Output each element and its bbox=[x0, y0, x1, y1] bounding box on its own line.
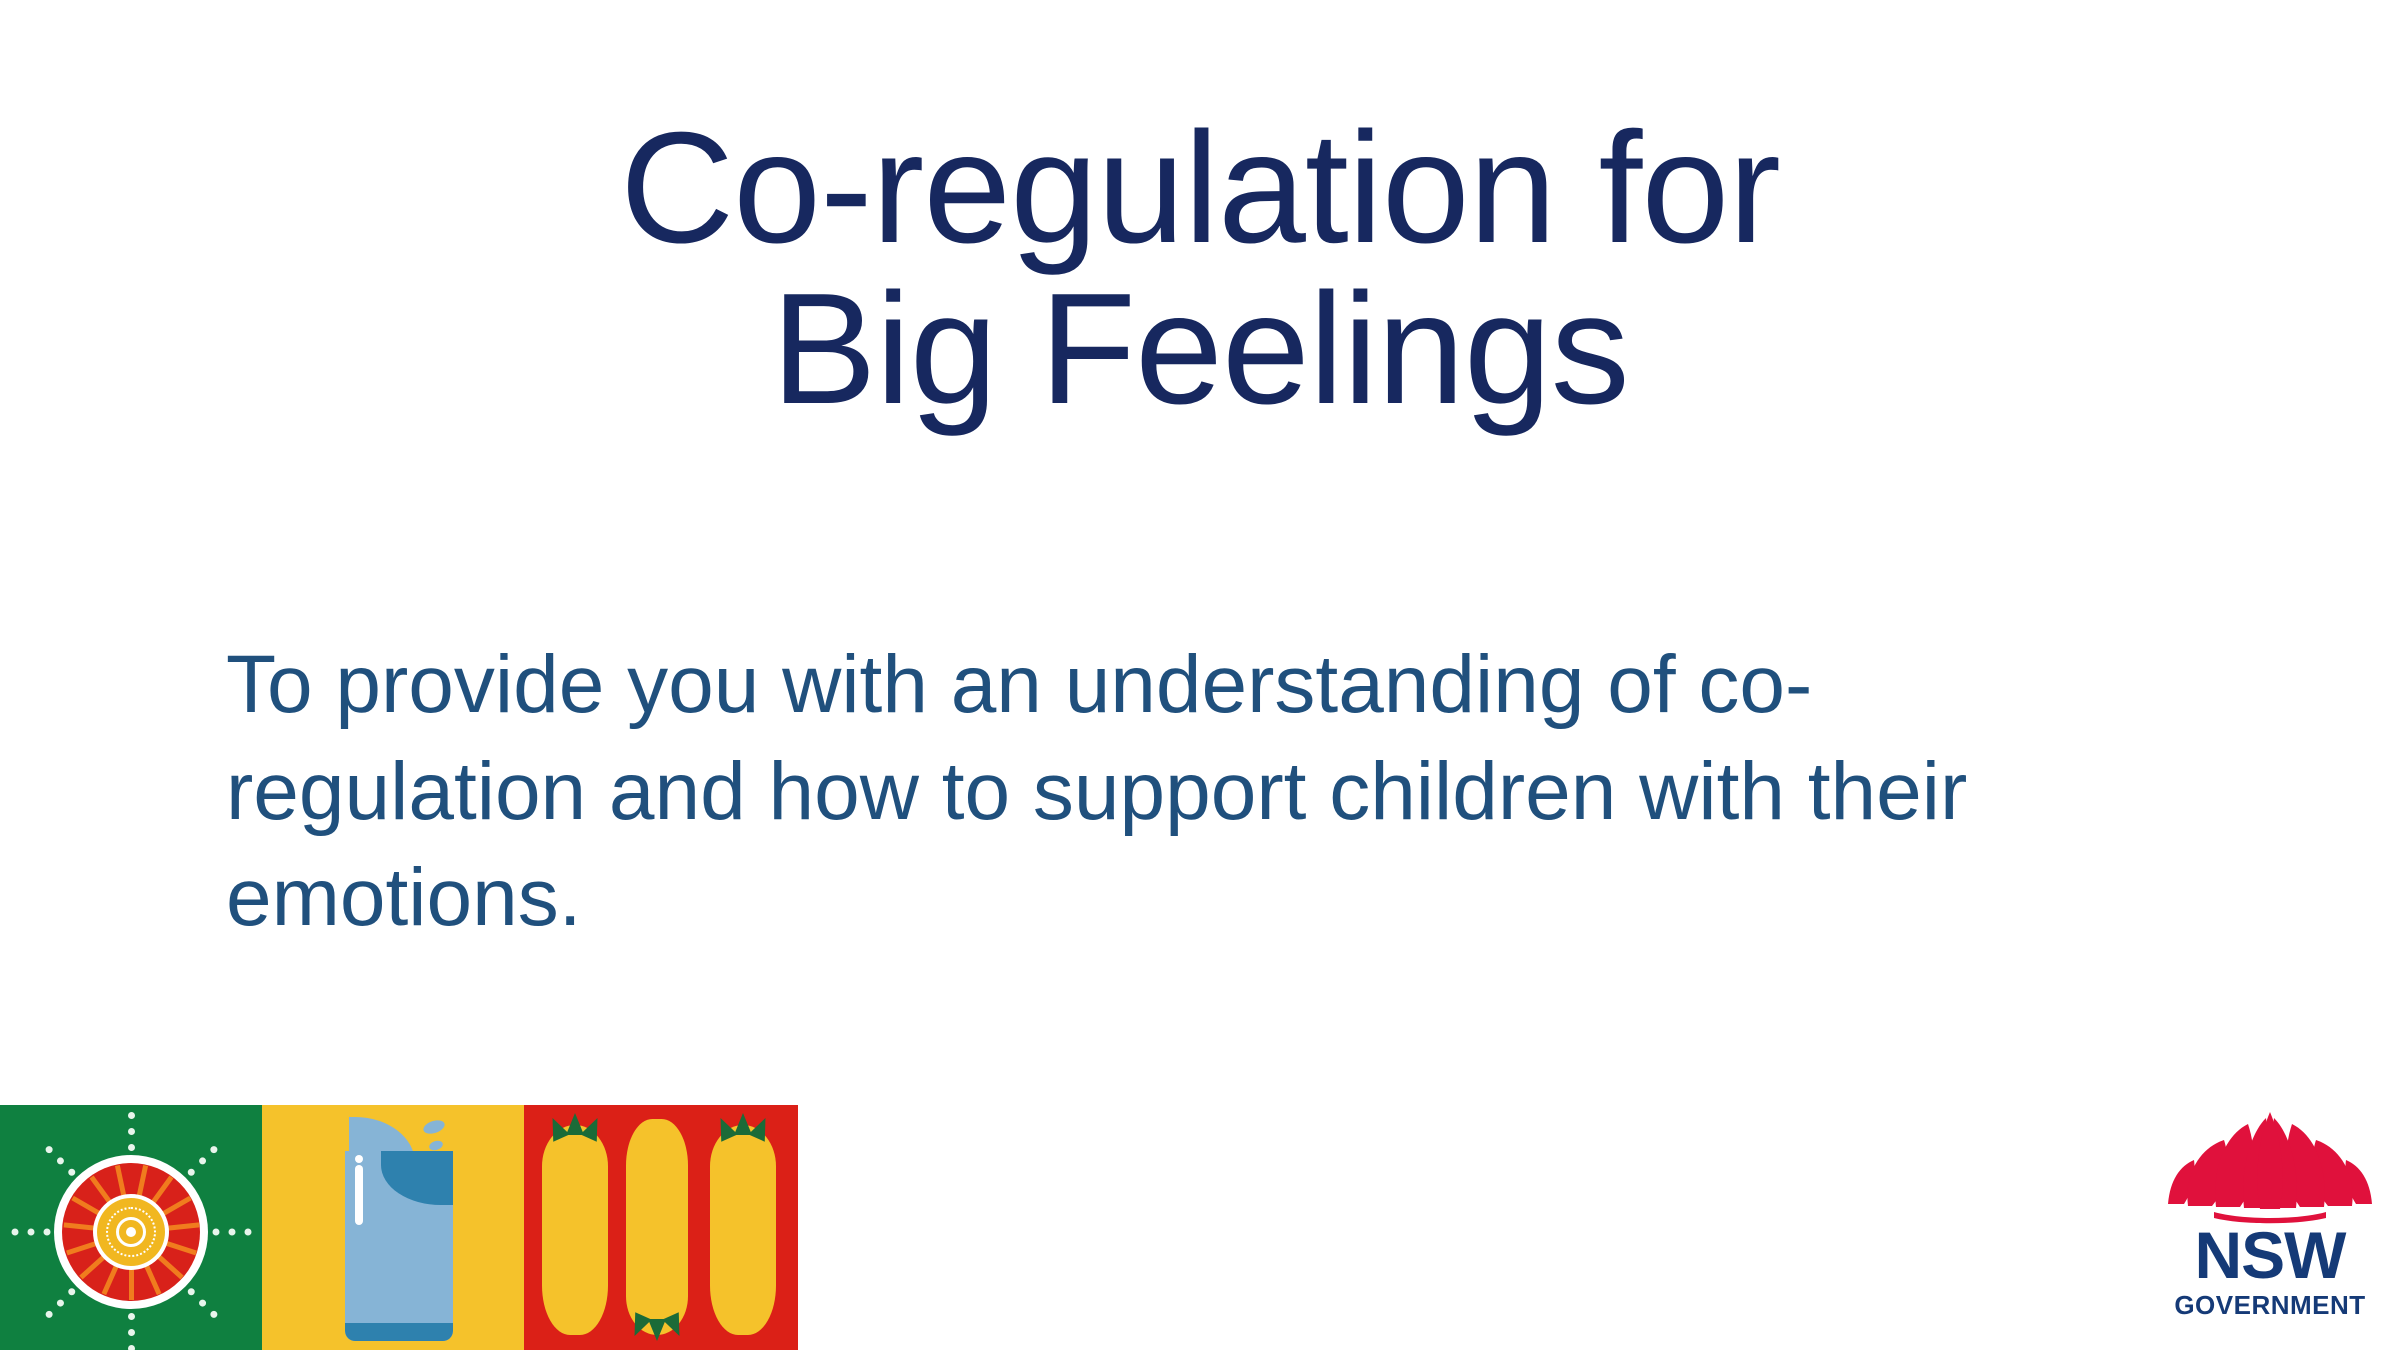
artwork-panel-carrots bbox=[524, 1105, 798, 1350]
title-line-2: Big Feelings bbox=[0, 269, 2400, 430]
carrot-leaves-icon bbox=[630, 1317, 684, 1341]
carrot-leaves-icon bbox=[548, 1113, 602, 1137]
nsw-government-logo: NSW GOVERNMENT bbox=[2162, 1108, 2378, 1324]
slide-canvas: Co-regulation for Big Feelings To provid… bbox=[0, 0, 2400, 1350]
carrot-icon bbox=[542, 1125, 608, 1335]
carrot-icon bbox=[626, 1119, 688, 1335]
carrot-leaves-icon bbox=[716, 1113, 770, 1137]
water-droplet-icon bbox=[422, 1117, 447, 1135]
water-droplet-icon bbox=[428, 1139, 444, 1152]
nsw-logo-secondary-text: GOVERNMENT bbox=[2162, 1290, 2378, 1321]
aboriginal-sun-icon bbox=[36, 1137, 226, 1327]
water-glass-icon bbox=[303, 1113, 483, 1343]
glass-body bbox=[345, 1151, 453, 1341]
artwork-panel-water-glass bbox=[262, 1105, 524, 1350]
nsw-logo-primary-text: NSW bbox=[2162, 1224, 2378, 1287]
carrots-icon-group bbox=[524, 1105, 798, 1350]
subtitle-text: To provide you with an understanding of … bbox=[226, 632, 2056, 952]
glass-water-surface bbox=[381, 1151, 453, 1205]
glass-base bbox=[345, 1323, 453, 1341]
carrot-icon bbox=[710, 1125, 776, 1335]
footer-artwork-strip bbox=[0, 1105, 798, 1350]
page-title: Co-regulation for Big Feelings bbox=[0, 108, 2400, 430]
glass-highlight-dot bbox=[355, 1155, 363, 1163]
artwork-panel-aboriginal-sun bbox=[0, 1105, 262, 1350]
glass-highlight-stripe bbox=[355, 1165, 363, 1225]
title-line-1: Co-regulation for bbox=[0, 108, 2400, 269]
sun-center-dot bbox=[126, 1227, 136, 1237]
waratah-flower-icon bbox=[2162, 1108, 2378, 1224]
